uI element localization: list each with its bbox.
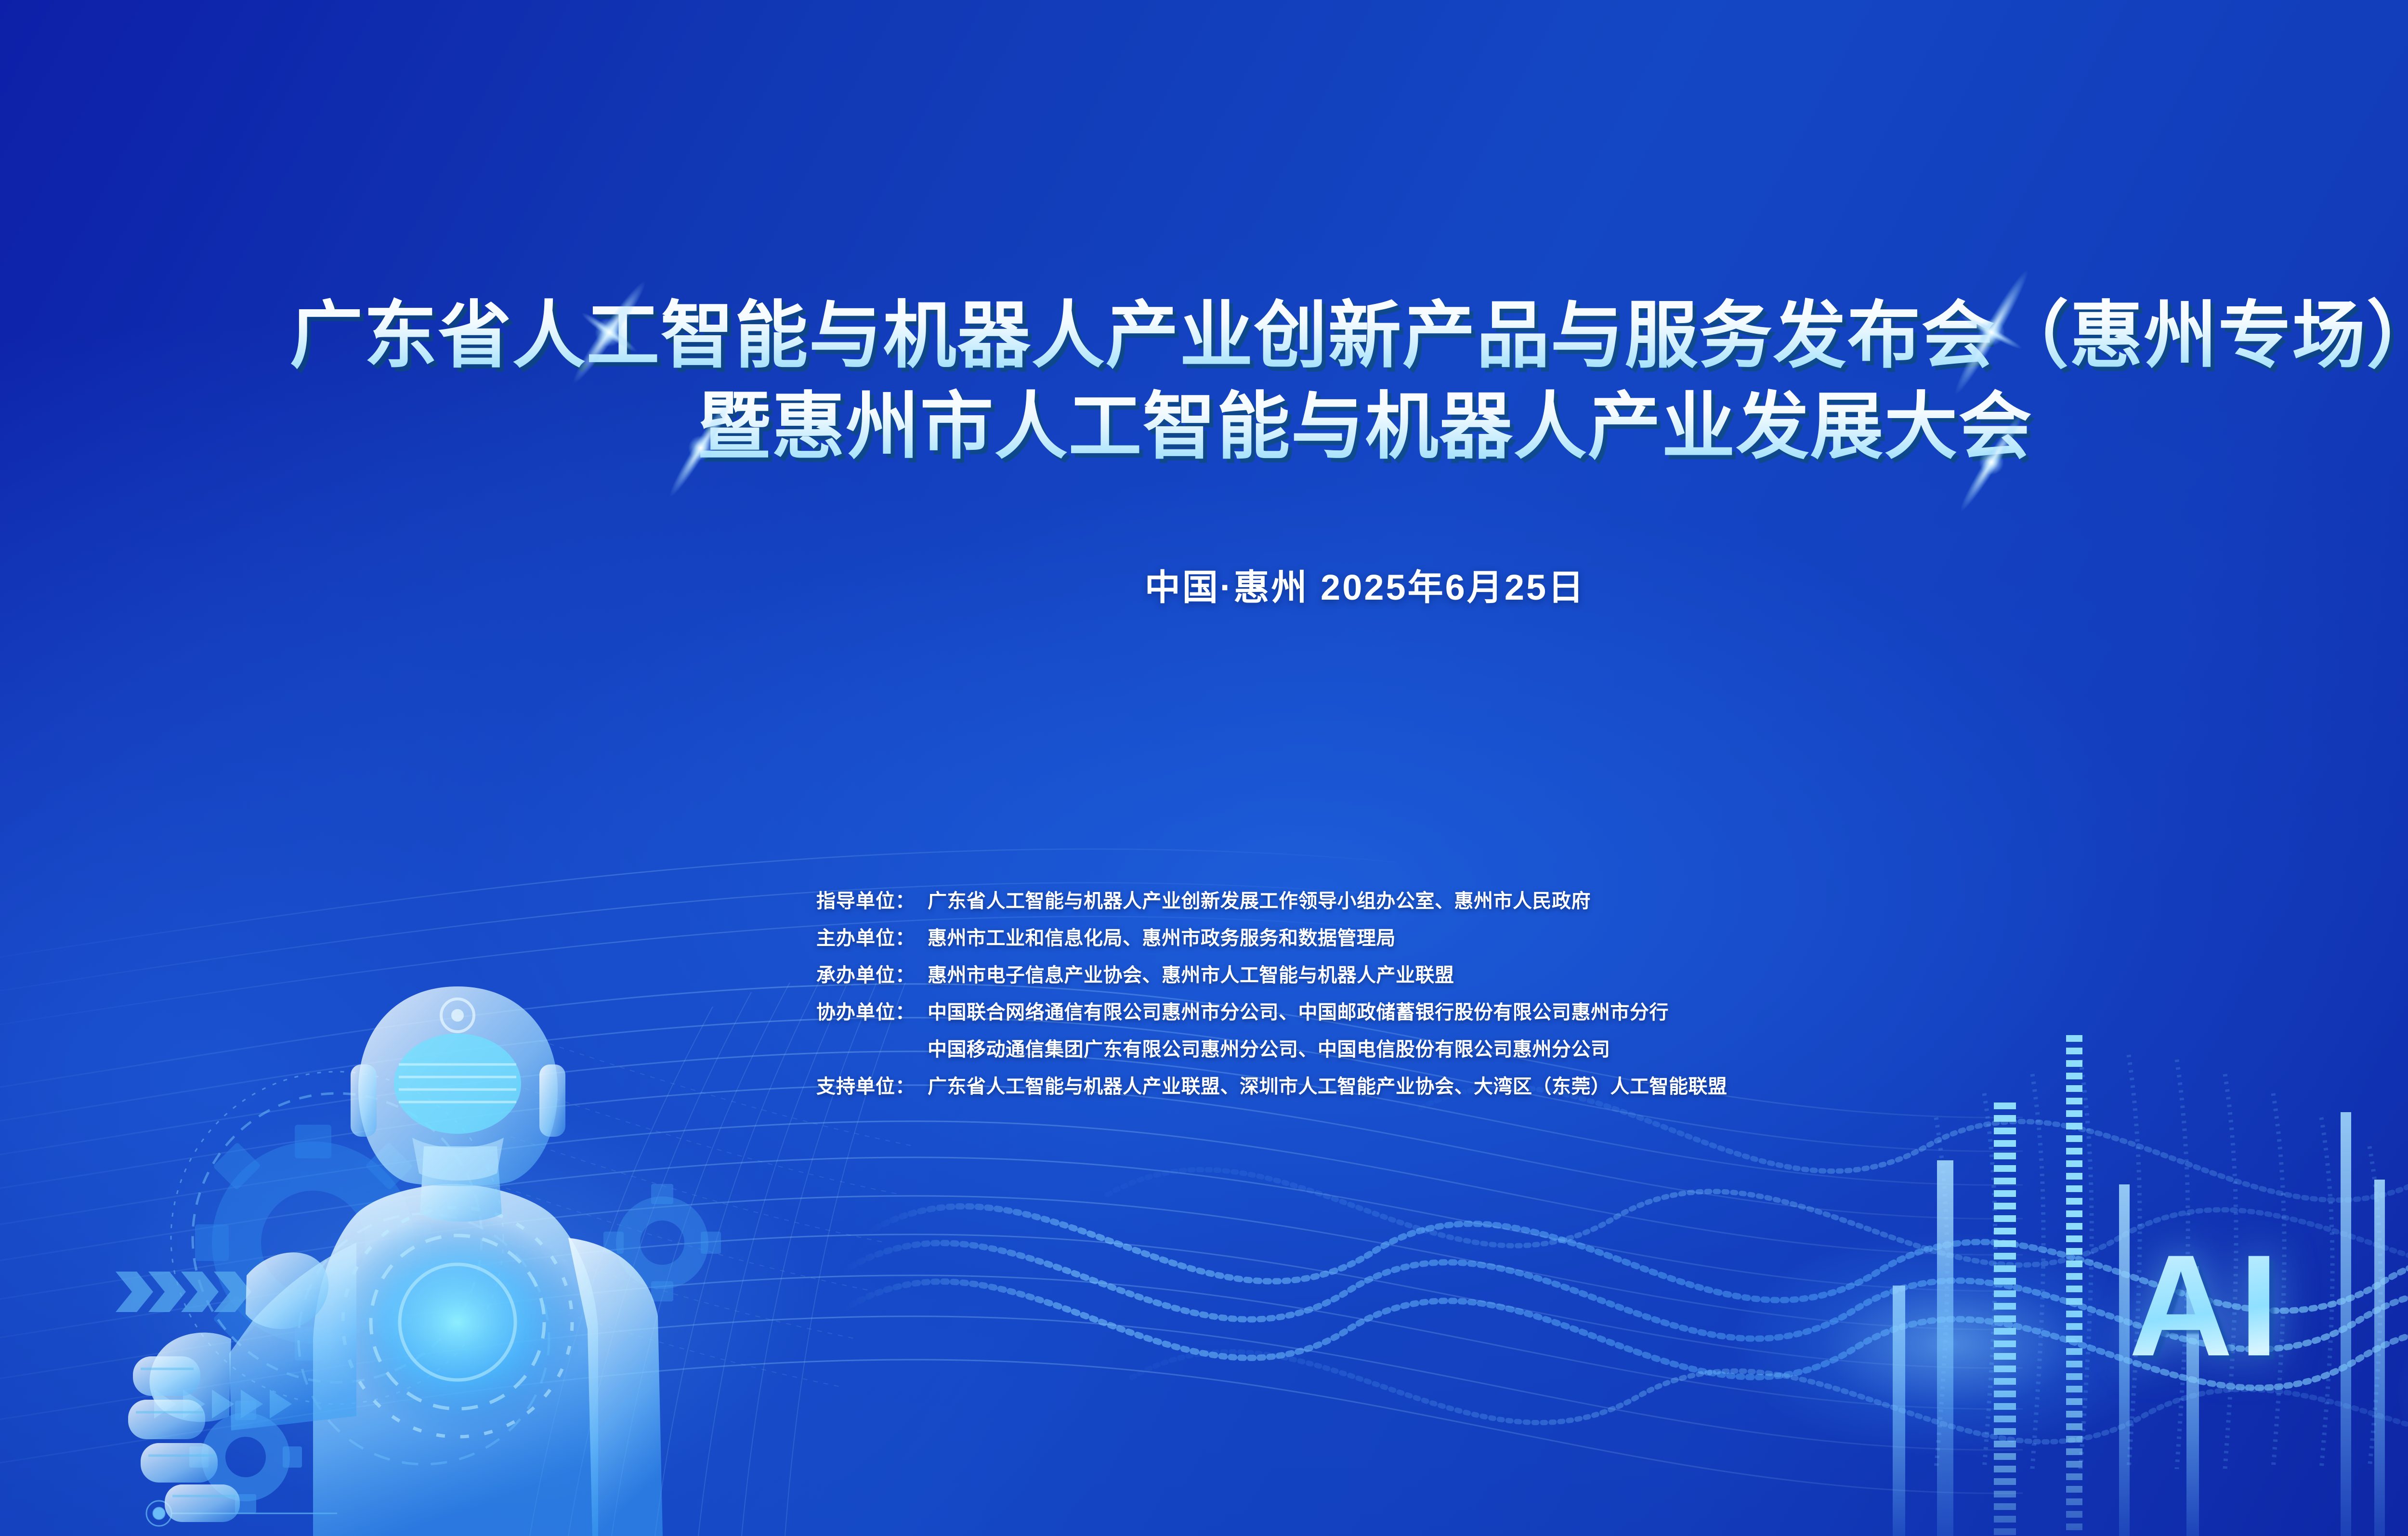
list-item: 协办单位： 中国联合网络通信有限公司惠州市分公司、中国邮政储蓄银行股份有限公司惠… [771, 997, 2071, 1024]
list-item: 协办单位： 中国移动通信集团广东有限公司惠州分公司、中国电信股份有限公司惠州分公… [771, 1034, 2071, 1062]
event-location-date: 中国·惠州 2025年6月25日 [0, 559, 2408, 610]
equalizer-bar [2066, 1035, 2082, 1536]
equalizer-bar [2341, 1112, 2351, 1536]
robot-figure-icon [87, 906, 732, 1536]
chevron-arrow-icon [116, 1272, 251, 1312]
equalizer-bar [1937, 1160, 1953, 1536]
equalizer-bar [1994, 1103, 2016, 1536]
organizer-label: 主办单位： [771, 922, 915, 950]
organizer-value: 广东省人工智能与机器人产业创新发展工作领导小组办公室、惠州市人民政府 [928, 885, 1591, 913]
list-item: 指导单位： 广东省人工智能与机器人产业创新发展工作领导小组办公室、惠州市人民政府 [771, 885, 2071, 913]
list-item: 承办单位： 惠州市电子信息产业协会、惠州市人工智能与机器人产业联盟 [771, 959, 2071, 987]
organizer-list: 指导单位： 广东省人工智能与机器人产业创新发展工作领导小组办公室、惠州市人民政府… [771, 885, 2071, 1108]
ai-logo: AI [2129, 1233, 2285, 1378]
organizer-label: 支持单位： [771, 1071, 915, 1099]
organizer-label: 指导单位： [771, 885, 915, 913]
title-block: 广东省人工智能与机器人产业创新产品与服务发布会（惠州专场） 暨惠州市人工智能与机… [0, 289, 2408, 473]
event-poster: 广东省人工智能与机器人产业创新产品与服务发布会（惠州专场） 暨惠州市人工智能与机… [0, 0, 2408, 1536]
list-item: 支持单位： 广东省人工智能与机器人产业联盟、深圳市人工智能产业协会、大湾区（东莞… [771, 1071, 2071, 1099]
equalizer-bar [1893, 1286, 1905, 1536]
organizer-value: 惠州市工业和信息化局、惠州市政务服务和数据管理局 [928, 922, 1396, 950]
page-title-line-2: 暨惠州市人工智能与机器人产业发展大会 [0, 380, 2408, 474]
organizer-value: 广东省人工智能与机器人产业联盟、深圳市人工智能产业协会、大湾区（东莞）人工智能联… [928, 1071, 1727, 1099]
organizer-label: 承办单位： [771, 959, 915, 987]
organizer-value: 中国联合网络通信有限公司惠州市分公司、中国邮政储蓄银行股份有限公司惠州市分行 [928, 997, 1669, 1024]
equalizer-bar [2374, 1180, 2385, 1536]
page-title-line-1: 广东省人工智能与机器人产业创新产品与服务发布会（惠州专场） [0, 289, 2408, 383]
organizer-label: 协办单位： [771, 997, 915, 1024]
organizer-value: 中国移动通信集团广东有限公司惠州分公司、中国电信股份有限公司惠州分公司 [928, 1034, 1610, 1062]
equalizer-bar [2119, 1184, 2130, 1536]
organizer-value: 惠州市电子信息产业协会、惠州市人工智能与机器人产业联盟 [928, 959, 1454, 987]
list-item: 主办单位： 惠州市工业和信息化局、惠州市政务服务和数据管理局 [771, 922, 2071, 950]
